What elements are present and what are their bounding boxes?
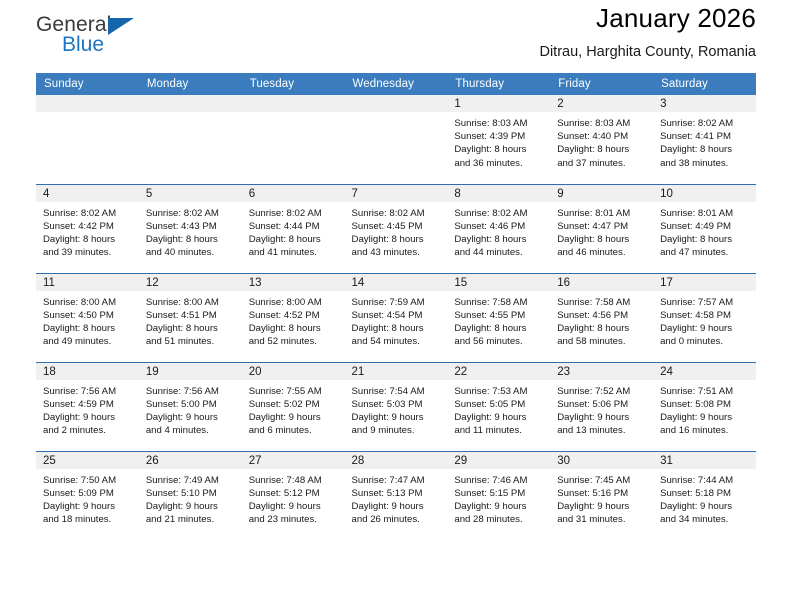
- day-detail-line: and 11 minutes.: [454, 424, 544, 437]
- day-cell[interactable]: 1Sunrise: 8:03 AMSunset: 4:39 PMDaylight…: [447, 95, 550, 184]
- calendar-page: General Blue January 2026 Ditrau, Harghi…: [0, 0, 792, 612]
- day-detail-line: and 56 minutes.: [454, 335, 544, 348]
- day-number: 10: [653, 185, 756, 202]
- day-detail-line: Sunrise: 8:02 AM: [146, 207, 236, 220]
- day-detail-line: Daylight: 9 hours: [43, 411, 133, 424]
- day-detail-line: Sunset: 5:12 PM: [249, 487, 339, 500]
- day-details: Sunrise: 7:56 AMSunset: 5:00 PMDaylight:…: [139, 380, 242, 438]
- masthead: General Blue January 2026 Ditrau, Harghi…: [36, 0, 756, 73]
- day-cell-empty: [345, 95, 448, 184]
- calendar-week-row: 11Sunrise: 8:00 AMSunset: 4:50 PMDayligh…: [36, 273, 756, 362]
- day-details: Sunrise: 7:44 AMSunset: 5:18 PMDaylight:…: [653, 469, 756, 527]
- day-number: [36, 95, 139, 112]
- day-detail-line: Daylight: 9 hours: [557, 411, 647, 424]
- day-detail-line: Sunrise: 8:02 AM: [660, 117, 750, 130]
- day-detail-line: Sunrise: 8:02 AM: [454, 207, 544, 220]
- day-detail-line: Sunset: 4:43 PM: [146, 220, 236, 233]
- day-number: [242, 95, 345, 112]
- day-detail-line: Daylight: 9 hours: [454, 411, 544, 424]
- day-detail-line: Daylight: 8 hours: [352, 233, 442, 246]
- day-cell[interactable]: 2Sunrise: 8:03 AMSunset: 4:40 PMDaylight…: [550, 95, 653, 184]
- day-detail-line: Sunrise: 8:00 AM: [146, 296, 236, 309]
- day-cell[interactable]: 11Sunrise: 8:00 AMSunset: 4:50 PMDayligh…: [36, 273, 139, 362]
- day-detail-line: Daylight: 8 hours: [352, 322, 442, 335]
- day-detail-line: and 38 minutes.: [660, 157, 750, 170]
- day-number: 27: [242, 452, 345, 469]
- day-detail-line: Sunset: 5:13 PM: [352, 487, 442, 500]
- day-detail-line: Sunrise: 7:52 AM: [557, 385, 647, 398]
- day-details: Sunrise: 7:58 AMSunset: 4:56 PMDaylight:…: [550, 291, 653, 349]
- day-detail-line: Daylight: 8 hours: [454, 233, 544, 246]
- day-details: Sunrise: 7:53 AMSunset: 5:05 PMDaylight:…: [447, 380, 550, 438]
- day-number: 1: [447, 95, 550, 112]
- weekday-header-sunday: Sunday: [36, 73, 139, 95]
- day-detail-line: and 58 minutes.: [557, 335, 647, 348]
- day-detail-line: Daylight: 8 hours: [660, 143, 750, 156]
- day-number: 15: [447, 274, 550, 291]
- day-number: 11: [36, 274, 139, 291]
- day-detail-line: and 41 minutes.: [249, 246, 339, 259]
- day-detail-line: Sunset: 5:08 PM: [660, 398, 750, 411]
- day-details: Sunrise: 7:51 AMSunset: 5:08 PMDaylight:…: [653, 380, 756, 438]
- day-detail-line: and 0 minutes.: [660, 335, 750, 348]
- day-cell[interactable]: 27Sunrise: 7:48 AMSunset: 5:12 PMDayligh…: [242, 451, 345, 540]
- day-details: Sunrise: 8:00 AMSunset: 4:50 PMDaylight:…: [36, 291, 139, 349]
- day-number: [345, 95, 448, 112]
- day-detail-line: and 39 minutes.: [43, 246, 133, 259]
- day-number: 18: [36, 363, 139, 380]
- day-detail-line: Daylight: 8 hours: [146, 322, 236, 335]
- day-cell[interactable]: 5Sunrise: 8:02 AMSunset: 4:43 PMDaylight…: [139, 184, 242, 273]
- day-details: Sunrise: 8:02 AMSunset: 4:41 PMDaylight:…: [653, 112, 756, 170]
- day-detail-line: Daylight: 9 hours: [557, 500, 647, 513]
- title-block: January 2026 Ditrau, Harghita County, Ro…: [539, 0, 756, 61]
- day-number: 9: [550, 185, 653, 202]
- day-detail-line: Sunset: 5:05 PM: [454, 398, 544, 411]
- day-number: 13: [242, 274, 345, 291]
- day-detail-line: Daylight: 8 hours: [146, 233, 236, 246]
- day-cell[interactable]: 12Sunrise: 8:00 AMSunset: 4:51 PMDayligh…: [139, 273, 242, 362]
- day-detail-line: and 4 minutes.: [146, 424, 236, 437]
- day-cell[interactable]: 18Sunrise: 7:56 AMSunset: 4:59 PMDayligh…: [36, 362, 139, 451]
- day-cell[interactable]: 21Sunrise: 7:54 AMSunset: 5:03 PMDayligh…: [345, 362, 448, 451]
- day-details: Sunrise: 7:49 AMSunset: 5:10 PMDaylight:…: [139, 469, 242, 527]
- day-detail-line: Daylight: 8 hours: [557, 233, 647, 246]
- day-cell[interactable]: 15Sunrise: 7:58 AMSunset: 4:55 PMDayligh…: [447, 273, 550, 362]
- day-number: 23: [550, 363, 653, 380]
- day-detail-line: and 40 minutes.: [146, 246, 236, 259]
- day-detail-line: Sunrise: 8:00 AM: [43, 296, 133, 309]
- calendar-week-row: 25Sunrise: 7:50 AMSunset: 5:09 PMDayligh…: [36, 451, 756, 540]
- day-detail-line: Sunset: 5:16 PM: [557, 487, 647, 500]
- logo-triangle-icon: [108, 18, 134, 35]
- day-detail-line: Sunset: 5:00 PM: [146, 398, 236, 411]
- calendar-body: 1Sunrise: 8:03 AMSunset: 4:39 PMDaylight…: [36, 95, 756, 540]
- day-detail-line: and 49 minutes.: [43, 335, 133, 348]
- day-detail-line: and 52 minutes.: [249, 335, 339, 348]
- day-number: 2: [550, 95, 653, 112]
- day-detail-line: Daylight: 9 hours: [146, 500, 236, 513]
- day-detail-line: Daylight: 8 hours: [557, 143, 647, 156]
- day-details: Sunrise: 7:57 AMSunset: 4:58 PMDaylight:…: [653, 291, 756, 349]
- day-detail-line: Sunrise: 7:48 AM: [249, 474, 339, 487]
- day-cell[interactable]: 30Sunrise: 7:45 AMSunset: 5:16 PMDayligh…: [550, 451, 653, 540]
- day-number: [139, 95, 242, 112]
- day-detail-line: and 23 minutes.: [249, 513, 339, 526]
- day-detail-line: Sunrise: 8:02 AM: [249, 207, 339, 220]
- day-detail-line: and 43 minutes.: [352, 246, 442, 259]
- day-details: Sunrise: 8:00 AMSunset: 4:51 PMDaylight:…: [139, 291, 242, 349]
- day-detail-line: Sunrise: 7:57 AM: [660, 296, 750, 309]
- day-details: Sunrise: 8:02 AMSunset: 4:46 PMDaylight:…: [447, 202, 550, 260]
- day-detail-line: and 13 minutes.: [557, 424, 647, 437]
- day-cell[interactable]: 23Sunrise: 7:52 AMSunset: 5:06 PMDayligh…: [550, 362, 653, 451]
- day-detail-line: Sunrise: 7:56 AM: [146, 385, 236, 398]
- day-detail-line: Daylight: 9 hours: [249, 411, 339, 424]
- day-detail-line: Sunset: 4:42 PM: [43, 220, 133, 233]
- day-cell[interactable]: 10Sunrise: 8:01 AMSunset: 4:49 PMDayligh…: [653, 184, 756, 273]
- day-cell[interactable]: 19Sunrise: 7:56 AMSunset: 5:00 PMDayligh…: [139, 362, 242, 451]
- day-detail-line: Sunset: 5:02 PM: [249, 398, 339, 411]
- day-detail-line: and 54 minutes.: [352, 335, 442, 348]
- day-detail-line: Daylight: 8 hours: [557, 322, 647, 335]
- day-detail-line: Sunrise: 7:44 AM: [660, 474, 750, 487]
- day-detail-line: and 47 minutes.: [660, 246, 750, 259]
- day-number: 5: [139, 185, 242, 202]
- day-details: Sunrise: 7:52 AMSunset: 5:06 PMDaylight:…: [550, 380, 653, 438]
- day-detail-line: Sunset: 5:15 PM: [454, 487, 544, 500]
- day-details: Sunrise: 8:03 AMSunset: 4:39 PMDaylight:…: [447, 112, 550, 170]
- day-detail-line: Sunrise: 8:01 AM: [557, 207, 647, 220]
- day-cell[interactable]: 26Sunrise: 7:49 AMSunset: 5:10 PMDayligh…: [139, 451, 242, 540]
- day-detail-line: Sunrise: 7:59 AM: [352, 296, 442, 309]
- day-detail-line: Daylight: 8 hours: [660, 233, 750, 246]
- day-number: 24: [653, 363, 756, 380]
- day-detail-line: Sunset: 4:52 PM: [249, 309, 339, 322]
- day-details: Sunrise: 8:00 AMSunset: 4:52 PMDaylight:…: [242, 291, 345, 349]
- calendar-week-row: 4Sunrise: 8:02 AMSunset: 4:42 PMDaylight…: [36, 184, 756, 273]
- day-detail-line: and 51 minutes.: [146, 335, 236, 348]
- day-detail-line: Sunset: 4:59 PM: [43, 398, 133, 411]
- weekday-header-thursday: Thursday: [447, 73, 550, 95]
- day-number: 26: [139, 452, 242, 469]
- day-detail-line: Daylight: 9 hours: [454, 500, 544, 513]
- day-detail-line: and 36 minutes.: [454, 157, 544, 170]
- day-cell[interactable]: 25Sunrise: 7:50 AMSunset: 5:09 PMDayligh…: [36, 451, 139, 540]
- day-cell[interactable]: 29Sunrise: 7:46 AMSunset: 5:15 PMDayligh…: [447, 451, 550, 540]
- day-detail-line: Sunset: 4:40 PM: [557, 130, 647, 143]
- day-detail-line: Daylight: 8 hours: [454, 322, 544, 335]
- day-cell[interactable]: 13Sunrise: 8:00 AMSunset: 4:52 PMDayligh…: [242, 273, 345, 362]
- day-cell[interactable]: 28Sunrise: 7:47 AMSunset: 5:13 PMDayligh…: [345, 451, 448, 540]
- day-cell[interactable]: 3Sunrise: 8:02 AMSunset: 4:41 PMDaylight…: [653, 95, 756, 184]
- day-detail-line: Sunset: 5:03 PM: [352, 398, 442, 411]
- day-cell[interactable]: 14Sunrise: 7:59 AMSunset: 4:54 PMDayligh…: [345, 273, 448, 362]
- day-number: 7: [345, 185, 448, 202]
- day-number: 16: [550, 274, 653, 291]
- calendar-table: Sunday Monday Tuesday Wednesday Thursday…: [36, 73, 756, 540]
- day-number: 31: [653, 452, 756, 469]
- day-detail-line: Sunrise: 8:02 AM: [43, 207, 133, 220]
- day-details: Sunrise: 7:54 AMSunset: 5:03 PMDaylight:…: [345, 380, 448, 438]
- calendar-week-row: 1Sunrise: 8:03 AMSunset: 4:39 PMDaylight…: [36, 95, 756, 184]
- day-detail-line: Sunrise: 8:02 AM: [352, 207, 442, 220]
- weekday-header-monday: Monday: [139, 73, 242, 95]
- day-cell[interactable]: 20Sunrise: 7:55 AMSunset: 5:02 PMDayligh…: [242, 362, 345, 451]
- day-details: Sunrise: 8:02 AMSunset: 4:43 PMDaylight:…: [139, 202, 242, 260]
- day-detail-line: and 26 minutes.: [352, 513, 442, 526]
- logo-text-blue: Blue: [62, 34, 104, 55]
- day-details: [345, 112, 448, 117]
- day-cell[interactable]: 24Sunrise: 7:51 AMSunset: 5:08 PMDayligh…: [653, 362, 756, 451]
- day-detail-line: Daylight: 9 hours: [43, 500, 133, 513]
- day-detail-line: Sunset: 4:46 PM: [454, 220, 544, 233]
- day-number: 8: [447, 185, 550, 202]
- day-cell-empty: [139, 95, 242, 184]
- day-details: Sunrise: 7:58 AMSunset: 4:55 PMDaylight:…: [447, 291, 550, 349]
- day-number: 19: [139, 363, 242, 380]
- day-cell-empty: [36, 95, 139, 184]
- day-number: 6: [242, 185, 345, 202]
- day-cell[interactable]: 8Sunrise: 8:02 AMSunset: 4:46 PMDaylight…: [447, 184, 550, 273]
- day-detail-line: Sunrise: 7:58 AM: [454, 296, 544, 309]
- day-detail-line: and 37 minutes.: [557, 157, 647, 170]
- day-detail-line: and 34 minutes.: [660, 513, 750, 526]
- day-details: Sunrise: 8:02 AMSunset: 4:44 PMDaylight:…: [242, 202, 345, 260]
- day-detail-line: Sunset: 4:49 PM: [660, 220, 750, 233]
- day-cell-empty: [242, 95, 345, 184]
- day-detail-line: Sunset: 5:10 PM: [146, 487, 236, 500]
- day-detail-line: Daylight: 8 hours: [249, 322, 339, 335]
- day-detail-line: and 21 minutes.: [146, 513, 236, 526]
- day-detail-line: Daylight: 9 hours: [660, 500, 750, 513]
- day-detail-line: and 9 minutes.: [352, 424, 442, 437]
- day-cell[interactable]: 22Sunrise: 7:53 AMSunset: 5:05 PMDayligh…: [447, 362, 550, 451]
- day-detail-line: and 6 minutes.: [249, 424, 339, 437]
- day-details: [139, 112, 242, 117]
- day-detail-line: Sunset: 5:18 PM: [660, 487, 750, 500]
- day-details: Sunrise: 7:48 AMSunset: 5:12 PMDaylight:…: [242, 469, 345, 527]
- day-detail-line: Daylight: 9 hours: [660, 322, 750, 335]
- day-detail-line: Sunset: 4:51 PM: [146, 309, 236, 322]
- weekday-header-wednesday: Wednesday: [345, 73, 448, 95]
- page-title: January 2026: [539, 2, 756, 35]
- day-detail-line: Sunset: 5:06 PM: [557, 398, 647, 411]
- day-detail-line: and 46 minutes.: [557, 246, 647, 259]
- day-detail-line: Sunrise: 7:46 AM: [454, 474, 544, 487]
- day-detail-line: Sunrise: 7:45 AM: [557, 474, 647, 487]
- day-detail-line: Sunset: 5:09 PM: [43, 487, 133, 500]
- day-details: [242, 112, 345, 117]
- day-number: 4: [36, 185, 139, 202]
- day-detail-line: Sunrise: 8:00 AM: [249, 296, 339, 309]
- day-detail-line: and 44 minutes.: [454, 246, 544, 259]
- day-details: Sunrise: 7:59 AMSunset: 4:54 PMDaylight:…: [345, 291, 448, 349]
- day-detail-line: Sunset: 4:55 PM: [454, 309, 544, 322]
- day-cell[interactable]: 16Sunrise: 7:58 AMSunset: 4:56 PMDayligh…: [550, 273, 653, 362]
- day-detail-line: Daylight: 9 hours: [352, 411, 442, 424]
- day-cell[interactable]: 4Sunrise: 8:02 AMSunset: 4:42 PMDaylight…: [36, 184, 139, 273]
- day-detail-line: Sunrise: 7:53 AM: [454, 385, 544, 398]
- logo-text-general: General: [36, 14, 111, 35]
- day-number: 21: [345, 363, 448, 380]
- general-blue-logo[interactable]: General Blue: [36, 8, 146, 64]
- day-cell[interactable]: 9Sunrise: 8:01 AMSunset: 4:47 PMDaylight…: [550, 184, 653, 273]
- day-number: 25: [36, 452, 139, 469]
- day-detail-line: Sunset: 4:54 PM: [352, 309, 442, 322]
- day-number: 30: [550, 452, 653, 469]
- calendar-header-row: Sunday Monday Tuesday Wednesday Thursday…: [36, 73, 756, 95]
- day-detail-line: Sunrise: 7:58 AM: [557, 296, 647, 309]
- day-details: Sunrise: 8:02 AMSunset: 4:45 PMDaylight:…: [345, 202, 448, 260]
- day-detail-line: Daylight: 8 hours: [43, 233, 133, 246]
- weekday-header-friday: Friday: [550, 73, 653, 95]
- day-number: 12: [139, 274, 242, 291]
- day-detail-line: Sunrise: 7:54 AM: [352, 385, 442, 398]
- day-details: Sunrise: 7:45 AMSunset: 5:16 PMDaylight:…: [550, 469, 653, 527]
- day-detail-line: Sunrise: 7:49 AM: [146, 474, 236, 487]
- day-detail-line: and 18 minutes.: [43, 513, 133, 526]
- day-detail-line: and 31 minutes.: [557, 513, 647, 526]
- day-details: Sunrise: 7:47 AMSunset: 5:13 PMDaylight:…: [345, 469, 448, 527]
- day-number: 14: [345, 274, 448, 291]
- day-detail-line: and 28 minutes.: [454, 513, 544, 526]
- day-number: 29: [447, 452, 550, 469]
- day-detail-line: Daylight: 8 hours: [454, 143, 544, 156]
- weekday-header-tuesday: Tuesday: [242, 73, 345, 95]
- day-detail-line: Sunrise: 7:56 AM: [43, 385, 133, 398]
- day-detail-line: Daylight: 9 hours: [352, 500, 442, 513]
- day-detail-line: Sunset: 4:41 PM: [660, 130, 750, 143]
- day-cell[interactable]: 31Sunrise: 7:44 AMSunset: 5:18 PMDayligh…: [653, 451, 756, 540]
- day-detail-line: Daylight: 8 hours: [43, 322, 133, 335]
- day-details: Sunrise: 7:50 AMSunset: 5:09 PMDaylight:…: [36, 469, 139, 527]
- day-number: 17: [653, 274, 756, 291]
- day-number: 28: [345, 452, 448, 469]
- day-details: Sunrise: 7:56 AMSunset: 4:59 PMDaylight:…: [36, 380, 139, 438]
- day-detail-line: Sunset: 4:47 PM: [557, 220, 647, 233]
- page-subtitle: Ditrau, Harghita County, Romania: [539, 44, 756, 61]
- day-detail-line: Sunrise: 7:51 AM: [660, 385, 750, 398]
- day-detail-line: Sunset: 4:56 PM: [557, 309, 647, 322]
- day-detail-line: and 16 minutes.: [660, 424, 750, 437]
- day-details: Sunrise: 8:01 AMSunset: 4:49 PMDaylight:…: [653, 202, 756, 260]
- day-detail-line: Sunset: 4:44 PM: [249, 220, 339, 233]
- day-detail-line: Sunrise: 8:01 AM: [660, 207, 750, 220]
- day-detail-line: Sunset: 4:50 PM: [43, 309, 133, 322]
- day-details: Sunrise: 7:55 AMSunset: 5:02 PMDaylight:…: [242, 380, 345, 438]
- calendar-week-row: 18Sunrise: 7:56 AMSunset: 4:59 PMDayligh…: [36, 362, 756, 451]
- weekday-header-saturday: Saturday: [653, 73, 756, 95]
- day-cell[interactable]: 6Sunrise: 8:02 AMSunset: 4:44 PMDaylight…: [242, 184, 345, 273]
- day-details: Sunrise: 8:01 AMSunset: 4:47 PMDaylight:…: [550, 202, 653, 260]
- day-detail-line: Daylight: 8 hours: [249, 233, 339, 246]
- day-details: Sunrise: 7:46 AMSunset: 5:15 PMDaylight:…: [447, 469, 550, 527]
- day-detail-line: Daylight: 9 hours: [660, 411, 750, 424]
- day-cell[interactable]: 7Sunrise: 8:02 AMSunset: 4:45 PMDaylight…: [345, 184, 448, 273]
- day-number: 22: [447, 363, 550, 380]
- day-detail-line: Daylight: 9 hours: [249, 500, 339, 513]
- day-detail-line: Sunrise: 7:50 AM: [43, 474, 133, 487]
- day-details: [36, 112, 139, 117]
- day-details: Sunrise: 8:02 AMSunset: 4:42 PMDaylight:…: [36, 202, 139, 260]
- day-detail-line: Sunset: 4:45 PM: [352, 220, 442, 233]
- day-detail-line: Sunset: 4:39 PM: [454, 130, 544, 143]
- day-detail-line: Sunrise: 8:03 AM: [557, 117, 647, 130]
- day-cell[interactable]: 17Sunrise: 7:57 AMSunset: 4:58 PMDayligh…: [653, 273, 756, 362]
- day-detail-line: Sunrise: 7:47 AM: [352, 474, 442, 487]
- day-detail-line: Sunset: 4:58 PM: [660, 309, 750, 322]
- day-number: 3: [653, 95, 756, 112]
- day-detail-line: Daylight: 9 hours: [146, 411, 236, 424]
- day-number: 20: [242, 363, 345, 380]
- day-detail-line: and 2 minutes.: [43, 424, 133, 437]
- day-detail-line: Sunrise: 7:55 AM: [249, 385, 339, 398]
- day-details: Sunrise: 8:03 AMSunset: 4:40 PMDaylight:…: [550, 112, 653, 170]
- day-detail-line: Sunrise: 8:03 AM: [454, 117, 544, 130]
